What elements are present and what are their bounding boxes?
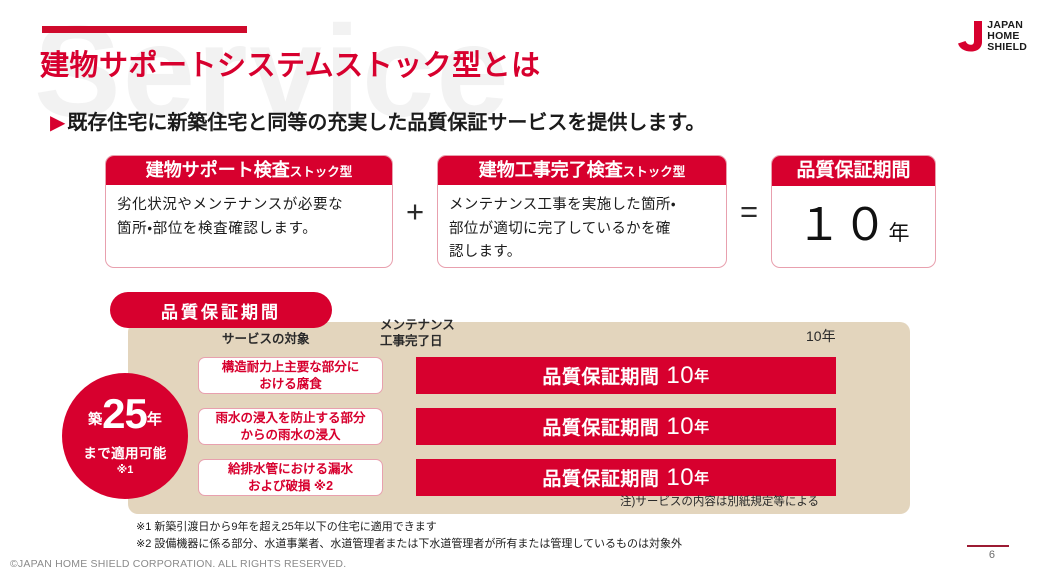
service-item-1-line-2: おける腐食 xyxy=(222,376,360,392)
inspection-box-2-line-3: 認します。 xyxy=(449,241,715,264)
inspection-box-1-body: 劣化状況やメンテナンスが必要な 箇所・部位を検査確認します。 xyxy=(106,185,392,247)
inspection-box-1-line-1: 劣化状況やメンテナンスが必要な xyxy=(117,194,381,217)
warranty-bar-list: 品質保証期間10年 品質保証期間10年 品質保証期間10年 xyxy=(416,357,836,510)
service-item-3-line-1: 給排水管における漏水 xyxy=(228,461,353,477)
warranty-bar-1-unit: 年 xyxy=(694,365,710,386)
warranty-period-box-value: １０年 xyxy=(772,186,935,262)
logo-j-mark xyxy=(957,21,983,52)
warranty-bar: 品質保証期間10年 xyxy=(416,357,836,394)
column-header-target: サービスの対象 xyxy=(222,332,310,348)
warranty-bar-3-label: 品質保証期間 xyxy=(542,464,659,491)
warranty-bar-1-number: 10 xyxy=(666,362,694,390)
warranty-bar: 品質保証期間10年 xyxy=(416,408,836,445)
age-limit-subtext: まで適用可能 xyxy=(62,442,188,462)
warranty-period-box: 品質保証期間 １０年 xyxy=(771,155,936,268)
slide: Service 建物サポートシステムストック型とは JAPAN HOME SHI… xyxy=(0,0,1037,579)
list-item: 構造耐力上主要な部分に おける腐食 xyxy=(198,357,383,394)
age-limit-number: 25 xyxy=(102,390,147,437)
formula-row: 建物サポート検査ストック型 劣化状況やメンテナンスが必要な 箇所・部位を検査確認… xyxy=(105,155,936,268)
service-item-2-line-2: からの雨水の浸入 xyxy=(215,427,365,443)
logo-line-3: SHIELD xyxy=(987,42,1027,53)
age-limit-main: 築25年 xyxy=(62,393,188,435)
equals-operator: = xyxy=(727,155,771,268)
list-item: 雨水の浸入を防止する部分 からの雨水の浸入 xyxy=(198,408,383,445)
service-item-2-line-1: 雨水の浸入を防止する部分 xyxy=(215,410,365,426)
warranty-bar-3-unit: 年 xyxy=(694,467,710,488)
warranty-period-box-header: 品質保証期間 xyxy=(772,156,935,186)
inspection-box-1-header-small: ストック型 xyxy=(290,165,353,179)
column-header-start-date: メンテナンス 工事完了日 xyxy=(380,318,455,349)
bullet-arrow-icon: ▶ xyxy=(50,112,65,134)
service-item-1-line-1: 構造耐力上主要な部分に xyxy=(222,359,360,375)
inspection-box-2-header: 建物工事完了検査ストック型 xyxy=(438,156,726,185)
age-limit-circle: 築25年 まで適用可能 ※1 xyxy=(62,373,188,499)
subtitle: ▶既存住宅に新築住宅と同等の充実した品質保証サービスを提供します。 xyxy=(50,106,705,135)
logo-wordmark: JAPAN HOME SHIELD xyxy=(987,20,1027,53)
warranty-bar: 品質保証期間10年 xyxy=(416,459,836,496)
inspection-box-1-line-2: 箇所・部位を検査確認します。 xyxy=(117,218,381,241)
warranty-period-number: １０ xyxy=(796,199,888,250)
service-target-list: 構造耐力上主要な部分に おける腐食 雨水の浸入を防止する部分 からの雨水の浸入 … xyxy=(198,357,383,510)
company-logo: JAPAN HOME SHIELD xyxy=(957,20,1027,53)
page-number: 6 xyxy=(989,549,995,561)
warranty-period-unit: 年 xyxy=(889,222,911,245)
inspection-box-2-header-main: 建物工事完了検査 xyxy=(479,160,623,180)
inspection-box-2: 建物工事完了検査ストック型 メンテナンス工事を実施した箇所・ 部位が適切に完了し… xyxy=(437,155,727,268)
inspection-box-1-header: 建物サポート検査ストック型 xyxy=(106,156,392,185)
warranty-bar-3-number: 10 xyxy=(666,464,694,492)
age-limit-footnote-mark: ※1 xyxy=(62,463,188,476)
warranty-bar-2-number: 10 xyxy=(666,413,694,441)
footnote-1: ※1 新築引渡日から9年を超え25年以下の住宅に適用できます xyxy=(136,519,682,536)
inspection-box-2-header-small: ストック型 xyxy=(623,165,686,179)
plus-operator: + xyxy=(393,155,437,268)
page-title: 建物サポートシステムストック型とは xyxy=(40,42,541,84)
footnote-2: ※2 設備機器に係る部分、水道事業者、水道管理者または下水道管理者が所有または管… xyxy=(136,536,682,553)
warranty-bar-2-unit: 年 xyxy=(694,416,710,437)
inspection-box-1-header-main: 建物サポート検査 xyxy=(146,160,290,180)
warranty-period-badge: 品質保証期間 xyxy=(110,292,332,328)
copyright-text: ©JAPAN HOME SHIELD CORPORATION. ALL RIGH… xyxy=(10,558,346,570)
warranty-bar-1-label: 品質保証期間 xyxy=(542,362,659,389)
footnotes: ※1 新築引渡日から9年を超え25年以下の住宅に適用できます ※2 設備機器に係… xyxy=(136,519,682,552)
inspection-box-2-body: メンテナンス工事を実施した箇所・ 部位が適切に完了しているかを確 認します。 xyxy=(438,185,726,268)
inspection-box-2-line-1: メンテナンス工事を実施した箇所・ xyxy=(449,194,715,217)
age-limit-prefix: 築 xyxy=(88,411,102,427)
warranty-bar-2-label: 品質保証期間 xyxy=(542,413,659,440)
title-accent-rule xyxy=(42,26,247,33)
start-date-line-2: 工事完了日 xyxy=(380,334,455,350)
panel-note: 注)サービスの内容は別紙規定等による xyxy=(620,493,819,509)
list-item: 給排水管における漏水 および破損 ※2 xyxy=(198,459,383,496)
inspection-box-2-line-2: 部位が適切に完了しているかを確 xyxy=(449,218,715,241)
column-header-end-year: 10年 xyxy=(806,328,836,346)
subtitle-text: 既存住宅に新築住宅と同等の充実した品質保証サービスを提供します。 xyxy=(67,112,705,134)
service-item-3-line-2: および破損 ※2 xyxy=(228,478,353,494)
page-number-rule xyxy=(967,545,1009,547)
age-limit-unit: 年 xyxy=(147,411,162,428)
start-date-line-1: メンテナンス xyxy=(380,318,455,334)
inspection-box-1: 建物サポート検査ストック型 劣化状況やメンテナンスが必要な 箇所・部位を検査確認… xyxy=(105,155,393,268)
